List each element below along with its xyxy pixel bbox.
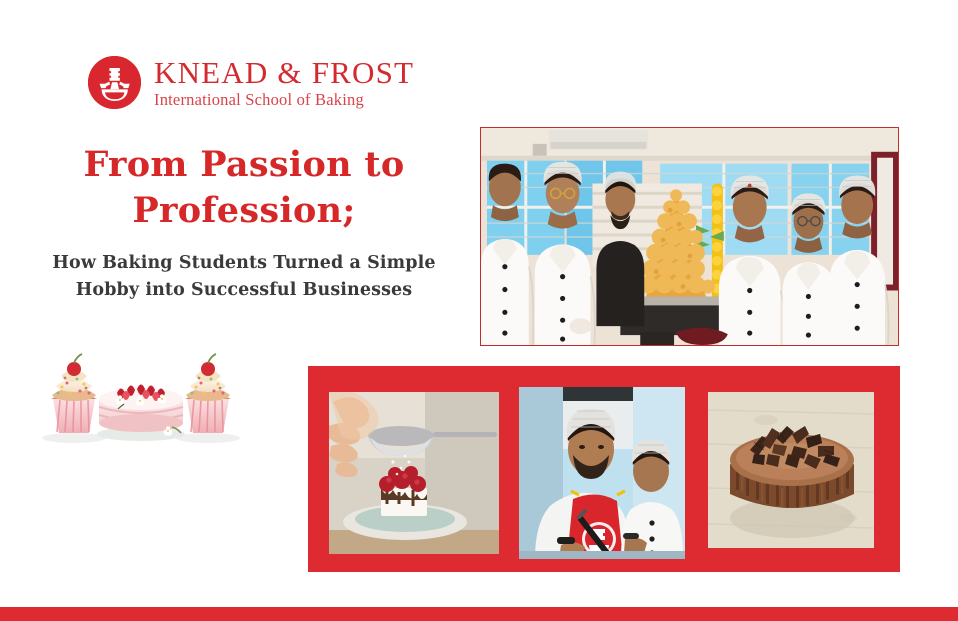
subheadline-line-1: How Baking Students Turned a Simple xyxy=(52,253,435,273)
stand-mixer-icon xyxy=(88,56,141,109)
students-with-croquembouche-photo xyxy=(480,127,899,346)
dusting-sugar-photo xyxy=(329,392,499,554)
student-piping-photo xyxy=(519,387,685,559)
subheadline-line-2: Hobby into Successful Businesses xyxy=(14,277,474,304)
brand-tagline: International School of Baking xyxy=(154,92,414,109)
footer-accent-bar xyxy=(0,607,958,621)
chocolate-cake-photo xyxy=(708,392,874,548)
brand-name: KNEAD & FROST xyxy=(154,57,414,88)
page-title: From Passion to Profession; xyxy=(14,142,474,234)
headline-line-1: From Passion to xyxy=(84,144,405,185)
gallery-panel xyxy=(308,366,900,572)
page-subtitle: How Baking Students Turned a Simple Hobb… xyxy=(14,250,474,304)
poster-canvas: KNEAD & FROST International School of Ba… xyxy=(0,0,958,621)
cupcakes-and-layer-cake-illustration xyxy=(34,341,248,449)
headline-line-2: Profession; xyxy=(14,188,474,234)
brand-lockup: KNEAD & FROST International School of Ba… xyxy=(88,56,414,109)
brand-text: KNEAD & FROST International School of Ba… xyxy=(154,57,414,109)
